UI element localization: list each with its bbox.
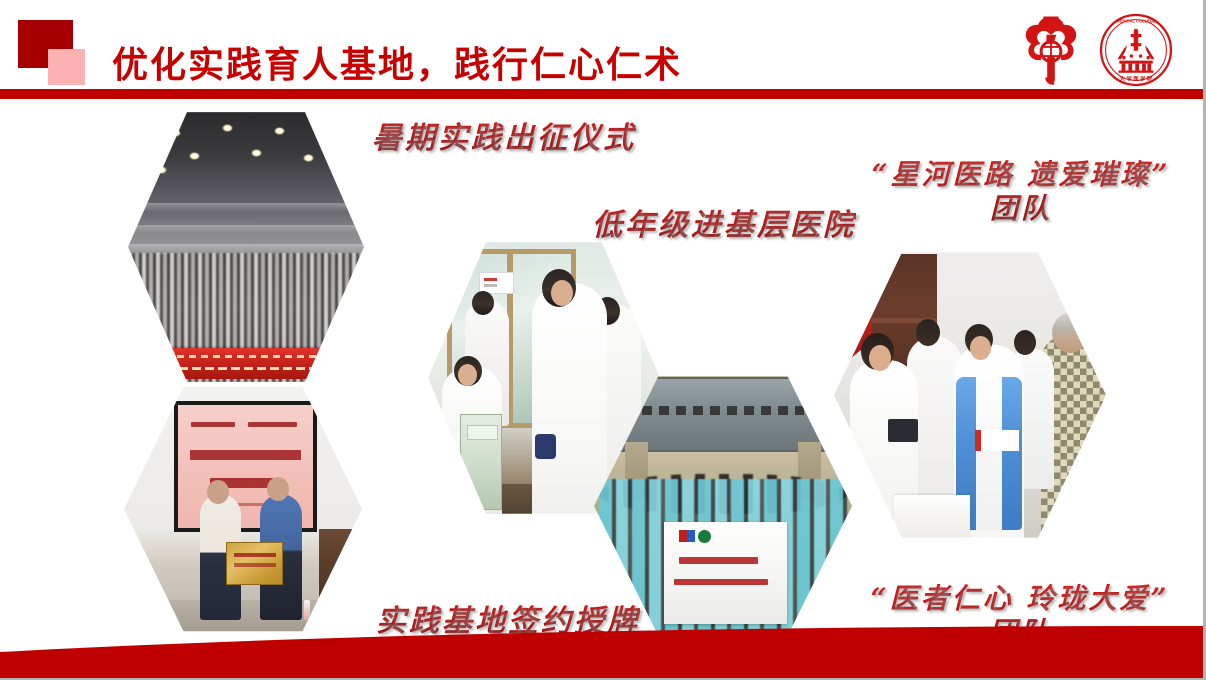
- caption-team-star: “星河医路 遗爱璀璨” 团队: [866, 158, 1176, 226]
- team-star-label: 团队: [866, 192, 1176, 226]
- caption-ceremony: 暑期实践出征仪式: [372, 113, 636, 157]
- page-title: 优化实践育人基地，践行仁心仁术: [112, 36, 682, 88]
- header-divider-rule: [0, 89, 1203, 99]
- team-banner: [664, 522, 788, 624]
- photo-hex-signing-plaque: [124, 383, 362, 635]
- photo-hex-assembly-ceremony: [128, 108, 364, 386]
- team-star-quote: “星河医路 遗爱璀璨”: [866, 158, 1176, 192]
- photo-hex-home-visit: [834, 248, 1106, 542]
- gold-plaque: [226, 542, 283, 585]
- medical-device: [460, 414, 502, 509]
- university-tree-emblem-icon: [1012, 12, 1090, 88]
- caption-hospital: 低年级进基层医院: [592, 200, 856, 244]
- ceremony-banner: [142, 348, 359, 379]
- team-love-quote: “医者仁心 玲珑大爱”: [860, 582, 1180, 616]
- footer-curve-decoration: [0, 626, 1203, 678]
- svg-text:MEDICAL COLLEGE: MEDICAL COLLEGE: [1116, 19, 1156, 24]
- header-decoration-square-light: [48, 49, 85, 85]
- medical-college-seal-icon: MEDICAL COLLEGE 大 学 医 学 院: [1098, 12, 1174, 88]
- auditorium-ceiling-lights: [128, 119, 364, 202]
- slide-header: 优化实践育人基地，践行仁心仁术: [0, 0, 1206, 100]
- lectern: [319, 529, 355, 615]
- student-observer: [532, 283, 606, 518]
- presentation-slide: 优化实践育人基地，践行仁心仁术: [0, 0, 1206, 680]
